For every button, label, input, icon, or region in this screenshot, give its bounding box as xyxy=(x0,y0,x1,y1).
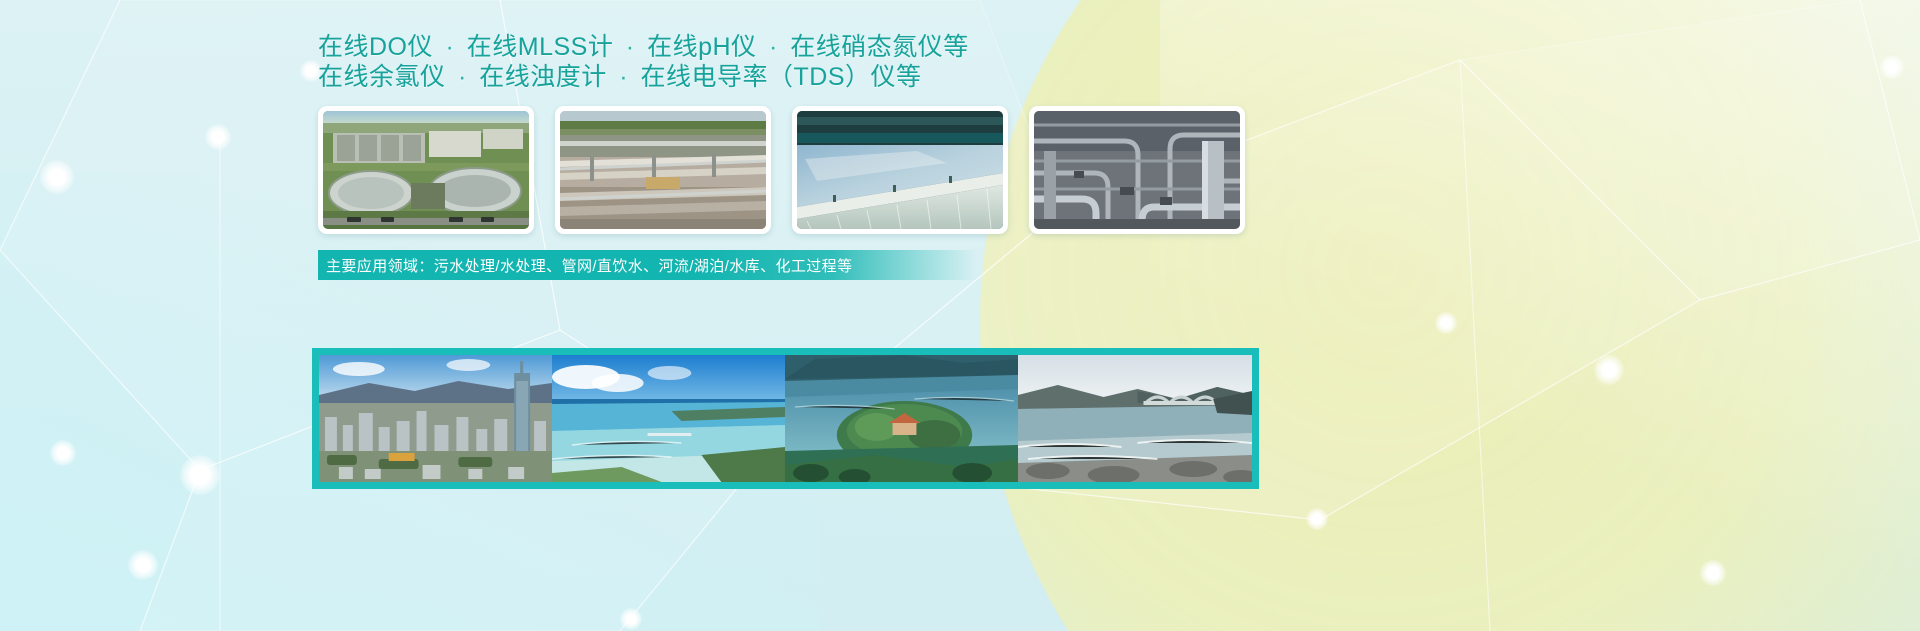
headline-item: 在线MLSS计 xyxy=(467,33,614,61)
headline-separator-icon: · xyxy=(453,63,472,91)
headline-item: 在线电导率（TDS）仪等 xyxy=(641,63,922,91)
headline-item: 在线DO仪 xyxy=(318,33,433,61)
application-label-bar: 主要应用领域：污水处理/水处理、管网/直饮水、河流/湖泊/水库、化工过程等 xyxy=(318,250,978,280)
product-photo-row xyxy=(318,106,1245,234)
scenery-cell[interactable] xyxy=(552,355,785,482)
background-glow-dot xyxy=(1306,508,1328,530)
background-glow-dot xyxy=(180,455,220,495)
scenery-strip xyxy=(312,348,1259,489)
product-photo-card[interactable] xyxy=(555,106,771,234)
background-glow-dot xyxy=(1435,312,1457,334)
rocky-shore-bridge-image xyxy=(1018,355,1252,482)
product-photo-card[interactable] xyxy=(1029,106,1245,234)
application-label-text: 主要应用领域：污水处理/水处理、管网/直饮水、河流/湖泊/水库、化工过程等 xyxy=(318,255,852,276)
background-glow-dot xyxy=(1594,355,1624,385)
headline-item: 在线硝态氮仪等 xyxy=(790,33,969,61)
background-glow-dot xyxy=(128,550,158,580)
headline-item: 在线余氯仪 xyxy=(318,63,446,91)
background-glow-dot xyxy=(1880,55,1904,79)
wastewater-treatment-plant-aerial-image xyxy=(323,111,529,229)
background-glow-dot xyxy=(205,124,231,150)
headline-separator-icon: · xyxy=(440,33,459,61)
background-glow-dot xyxy=(50,440,76,466)
headline-item: 在线浊度计 xyxy=(479,63,607,91)
background-glow-dot xyxy=(620,608,642,630)
headline-line-2: 在线余氯仪 · 在线浊度计 · 在线电导率（TDS）仪等 xyxy=(318,62,969,92)
coastal-bay-aerial-image xyxy=(552,355,785,482)
aeration-basin-sedimentation-tank-image xyxy=(560,111,766,229)
background-glow-dot xyxy=(1700,560,1726,586)
headline-item: 在线pH仪 xyxy=(647,33,756,61)
headline-block: 在线DO仪 · 在线MLSS计 · 在线pH仪 · 在线硝态氮仪等 在线余氯仪 … xyxy=(318,32,969,92)
island-lagoon-forest-image xyxy=(785,355,1018,482)
clarifier-overflow-weir-image xyxy=(797,111,1003,229)
taipei-city-skyline-image xyxy=(319,355,552,482)
scenery-cell[interactable] xyxy=(1018,355,1252,482)
headline-separator-icon: · xyxy=(614,63,633,91)
headline-separator-icon: · xyxy=(621,33,640,61)
scenery-cell[interactable] xyxy=(319,355,552,482)
product-photo-card[interactable] xyxy=(318,106,534,234)
product-photo-card[interactable] xyxy=(792,106,1008,234)
banner-stage: 在线DO仪 · 在线MLSS计 · 在线pH仪 · 在线硝态氮仪等 在线余氯仪 … xyxy=(0,0,1920,631)
scenery-cell[interactable] xyxy=(785,355,1018,482)
headline-line-1: 在线DO仪 · 在线MLSS计 · 在线pH仪 · 在线硝态氮仪等 xyxy=(318,32,969,62)
background-glow-dot xyxy=(40,160,74,194)
headline-separator-icon: · xyxy=(764,33,783,61)
background-network-pattern xyxy=(0,0,1920,631)
chemical-plant-pipework-image xyxy=(1034,111,1240,229)
